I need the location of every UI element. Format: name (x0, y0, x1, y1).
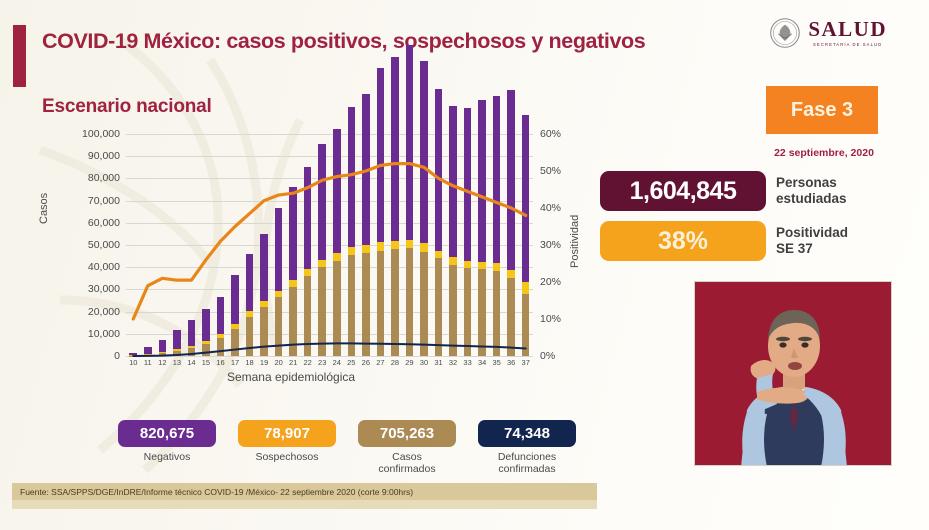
chart-x-tick: 21 (289, 358, 297, 367)
legend-caption-line1: Sospechosos (238, 451, 336, 463)
chart-line-series (133, 164, 525, 319)
chart-y-axis-label: Casos (38, 193, 50, 224)
chart-x-tick: 32 (449, 358, 457, 367)
chart-x-tick: 26 (362, 358, 370, 367)
chart-y2-tick: 30% (540, 239, 561, 251)
chart-x-tick: 33 (463, 358, 471, 367)
chart-x-tick: 23 (318, 358, 326, 367)
chart-y2-tick: 10% (540, 313, 561, 325)
stat-caption-line2: estudiadas (776, 191, 847, 207)
legend-caption-line1: Negativos (118, 451, 216, 463)
chart-y-tick: 30,000 (88, 283, 120, 295)
page-title: COVID-19 México: casos positivos, sospec… (42, 29, 645, 54)
legend-value-pill: 78,907 (238, 420, 336, 447)
chart-y-tick: 80,000 (88, 172, 120, 184)
chart-x-tick: 19 (260, 358, 268, 367)
legend-caption: Sospechosos (238, 451, 336, 463)
phase-label: Fase 3 (791, 99, 853, 122)
chart-x-tick: 12 (158, 358, 166, 367)
stat-caption-line1: Personas (776, 175, 847, 191)
chart-x-tick: 17 (231, 358, 239, 367)
legend-caption: Defuncionesconfirmadas (478, 451, 576, 476)
chart-x-tick: 14 (187, 358, 195, 367)
legend-caption-line2: confirmadas (478, 463, 576, 475)
chart-x-tick: 29 (405, 358, 413, 367)
chart-x-tick: 37 (522, 358, 530, 367)
stat-caption: Positividad SE 37 (776, 225, 848, 257)
chart-x-axis-label: Semana epidemiológica (36, 370, 546, 384)
sign-language-interpreter-feed[interactable] (694, 281, 892, 466)
chart-x-tick: 25 (347, 358, 355, 367)
chart-y-tick: 70,000 (88, 195, 120, 207)
legend-caption-line2: confirmados (358, 463, 456, 475)
legend-item: 78,907Sospechosos (238, 420, 336, 476)
chart-y2-axis-label: Positividad (569, 215, 581, 268)
chart-x-tick: 27 (376, 358, 384, 367)
chart-x-tick: 31 (434, 358, 442, 367)
chart-legend: 820,675Negativos78,907Sospechosos705,263… (118, 420, 576, 476)
salud-wordmark: SALUD (808, 19, 887, 40)
chart-y-tick: 10,000 (88, 328, 120, 340)
legend-value-pill: 74,348 (478, 420, 576, 447)
chart-x-tick: 36 (507, 358, 515, 367)
chart-y-tick: 90,000 (88, 150, 120, 162)
stat-row-positividad: 38% Positividad SE 37 (600, 221, 848, 261)
stat-caption-line1: Positividad (776, 225, 848, 241)
legend-item: 820,675Negativos (118, 420, 216, 476)
title-accent-bar (13, 25, 26, 87)
chart-x-tick: 30 (420, 358, 428, 367)
chart-y-tick: 100,000 (82, 128, 120, 140)
chart-line-series (133, 343, 525, 356)
chart-x-tick: 24 (333, 358, 341, 367)
salud-logo: SALUD SECRETARÍA DE SALUD (770, 18, 887, 48)
chart-plot-area: 010,00020,00030,00040,00050,00060,00070,… (126, 134, 533, 356)
stat-caption-line2: SE 37 (776, 241, 848, 257)
chart-x-tick: 22 (304, 358, 312, 367)
chart-x-tick: 11 (144, 358, 152, 367)
legend-value-pill: 705,263 (358, 420, 456, 447)
legend-value-pill: 820,675 (118, 420, 216, 447)
chart-y2-tick: 40% (540, 202, 561, 214)
chart-y-tick: 20,000 (88, 306, 120, 318)
legend-caption-line1: Defunciones (478, 451, 576, 463)
legend-caption: Casosconfirmados (358, 451, 456, 476)
chart-y2-tick: 50% (540, 165, 561, 177)
chart-x-tick: 13 (173, 358, 181, 367)
chart-y2-tick: 20% (540, 276, 561, 288)
chart-x-tick: 35 (492, 358, 500, 367)
legend-caption-line1: Casos (358, 451, 456, 463)
source-footer: Fuente: SSA/SPPS/DGE/InDRE/Informe técni… (12, 483, 597, 500)
stat-value-pill: 1,604,845 (600, 171, 766, 211)
stat-value-pill: 38% (600, 221, 766, 261)
chart-x-tick: 18 (245, 358, 253, 367)
chart: Casos Positividad Semana epidemiológica … (36, 128, 581, 390)
stat-row-personas-estudiadas: 1,604,845 Personas estudiadas (600, 171, 847, 211)
stat-caption: Personas estudiadas (776, 175, 847, 207)
chart-x-tick: 34 (478, 358, 486, 367)
chart-gridline (126, 356, 533, 357)
salud-sublabel: SECRETARÍA DE SALUD (813, 42, 882, 47)
source-text: Fuente: SSA/SPPS/DGE/InDRE/Informe técni… (20, 487, 413, 497)
chart-y-tick: 60,000 (88, 217, 120, 229)
chart-y-tick: 40,000 (88, 261, 120, 273)
legend-item: 705,263Casosconfirmados (358, 420, 456, 476)
phase-date: 22 septiembre, 2020 (760, 147, 888, 159)
chart-y-tick: 0 (114, 350, 120, 362)
chart-x-tick: 16 (216, 358, 224, 367)
footer-strip (12, 500, 597, 509)
legend-caption: Negativos (118, 451, 216, 463)
mexican-eagle-seal-icon (770, 18, 800, 48)
chart-x-tick: 20 (274, 358, 282, 367)
chart-x-tick: 28 (391, 358, 399, 367)
phase-badge: Fase 3 (766, 86, 878, 134)
interpreter-figure (695, 282, 892, 466)
chart-x-tick: 10 (129, 358, 137, 367)
section-subtitle: Escenario nacional (42, 96, 212, 118)
legend-item: 74,348Defuncionesconfirmadas (478, 420, 576, 476)
chart-y-tick: 50,000 (88, 239, 120, 251)
chart-x-tick: 15 (202, 358, 210, 367)
chart-y2-tick: 0% (540, 350, 555, 362)
chart-line-overlay (126, 134, 533, 356)
chart-y2-tick: 60% (540, 128, 561, 140)
